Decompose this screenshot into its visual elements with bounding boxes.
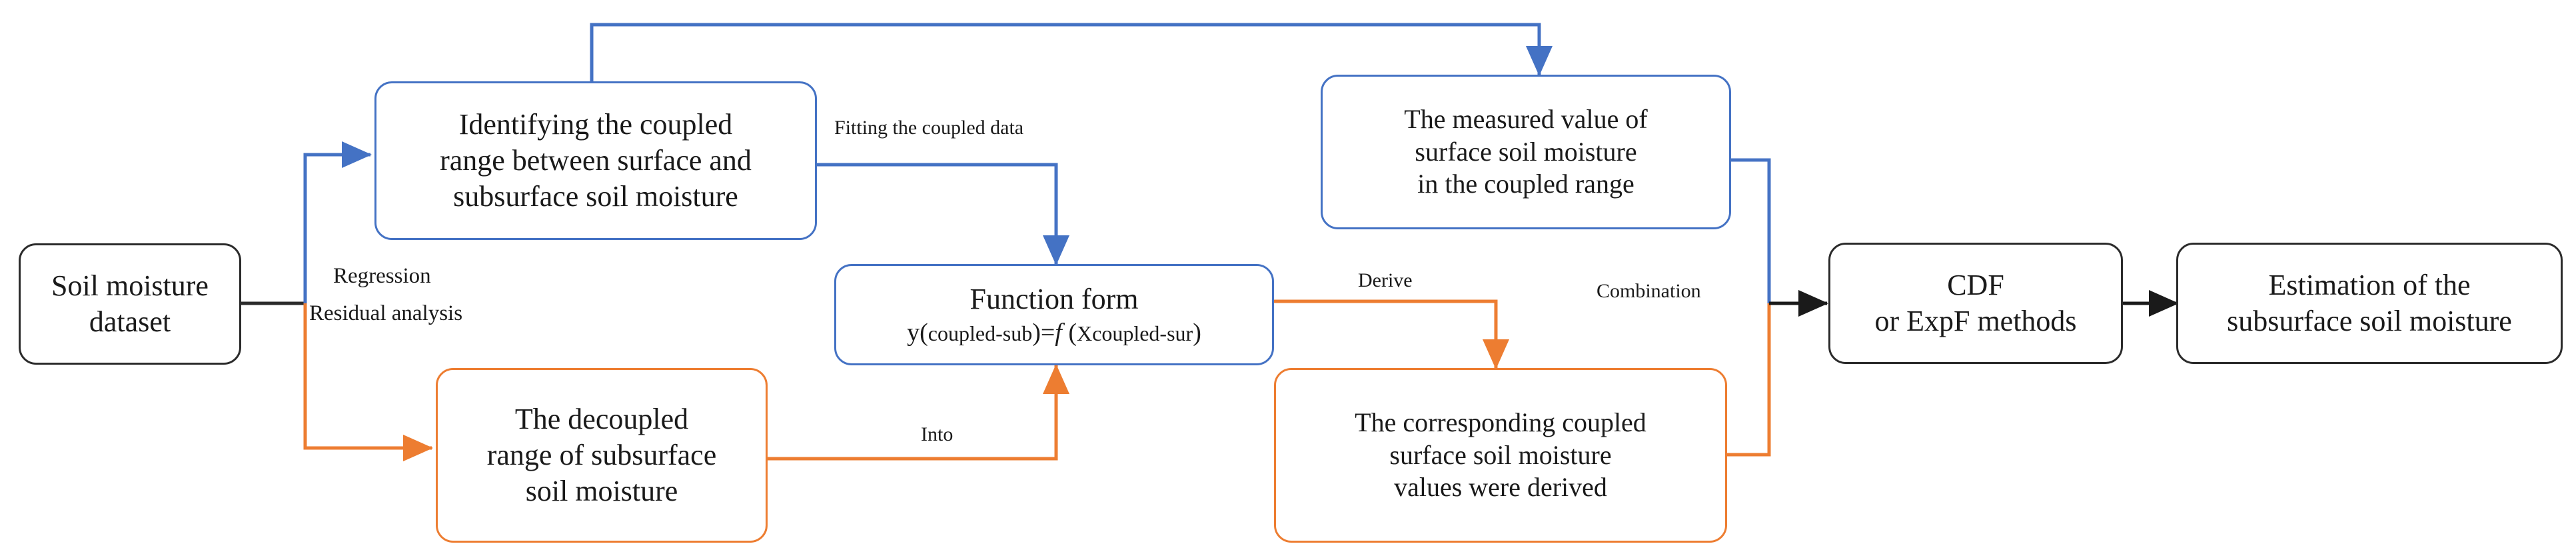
node-line: surface soil moisture [1415, 136, 1636, 169]
node-line: Estimation of the [2268, 267, 2470, 303]
node-measured-surface-value[interactable]: The measured value of surface soil moist… [1321, 75, 1731, 229]
formula-f: f [1055, 319, 1062, 347]
edge-label-into: Into [921, 423, 953, 446]
node-function-form[interactable]: Function form y(coupled-sub)=f (Xcoupled… [834, 264, 1274, 365]
edge-identifying-to-measured [592, 25, 1539, 81]
formula-argument: Xcoupled-sur [1077, 321, 1193, 345]
formula-left-subscript: coupled-sub [928, 321, 1032, 345]
formula-y: y [907, 319, 920, 347]
edge-label-residual-analysis: Residual analysis [309, 301, 462, 326]
node-line: surface soil moisture [1389, 439, 1611, 472]
flowchart-canvas: Soil moisture dataset Identifying the co… [0, 0, 2576, 544]
node-decoupled-range[interactable]: The decoupled range of subsurface soil m… [436, 368, 768, 543]
node-line: The decoupled [515, 401, 688, 437]
edge-label-regression: Regression [333, 264, 431, 289]
formula-right-paren: ) [1032, 319, 1041, 347]
node-line: subsurface soil moisture [2227, 303, 2512, 339]
edge-label-derive: Derive [1358, 269, 1413, 292]
node-line: range between surface and [440, 143, 752, 179]
edge-identifying-to-function [817, 165, 1056, 264]
node-line: The corresponding coupled [1355, 407, 1646, 439]
formula-equals: = [1041, 319, 1055, 347]
node-estimation-subsurface[interactable]: Estimation of the subsurface soil moistu… [2176, 243, 2563, 364]
edge-label-fitting: Fitting the coupled data [834, 117, 1023, 139]
node-line: soil moisture [526, 473, 678, 509]
node-line: range of subsurface [487, 437, 717, 473]
node-line: subsurface soil moisture [453, 179, 738, 215]
node-line: Function form [970, 281, 1139, 317]
function-formula: y(coupled-sub)=f (Xcoupled-sur) [907, 317, 1201, 348]
formula-arg-open: ( [1062, 319, 1077, 347]
node-line: dataset [89, 304, 171, 340]
edge-measured-to-merge [1731, 160, 1769, 303]
node-corresponding-coupled-values[interactable]: The corresponding coupled surface soil m… [1274, 368, 1727, 543]
edge-function-to-corresponding [1274, 301, 1496, 368]
edge-corresponding-to-merge [1727, 303, 1769, 455]
node-line: values were derived [1394, 471, 1607, 504]
node-line: in the coupled range [1417, 168, 1634, 201]
node-identifying-coupled-range[interactable]: Identifying the coupled range between su… [374, 81, 817, 240]
edge-label-combination: Combination [1597, 280, 1701, 303]
node-line: Identifying the coupled [459, 107, 733, 143]
edge-decoupled-to-function [768, 365, 1056, 459]
node-soil-moisture-dataset[interactable]: Soil moisture dataset [19, 243, 241, 365]
node-line: CDF [1947, 267, 2004, 303]
node-line: Soil moisture [51, 268, 209, 304]
node-line: or ExpF methods [1874, 303, 2076, 339]
formula-arg-close: ) [1193, 319, 1201, 347]
node-cdf-expf-methods[interactable]: CDF or ExpF methods [1828, 243, 2123, 364]
node-line: The measured value of [1404, 103, 1647, 136]
formula-left-paren: ( [920, 319, 928, 347]
